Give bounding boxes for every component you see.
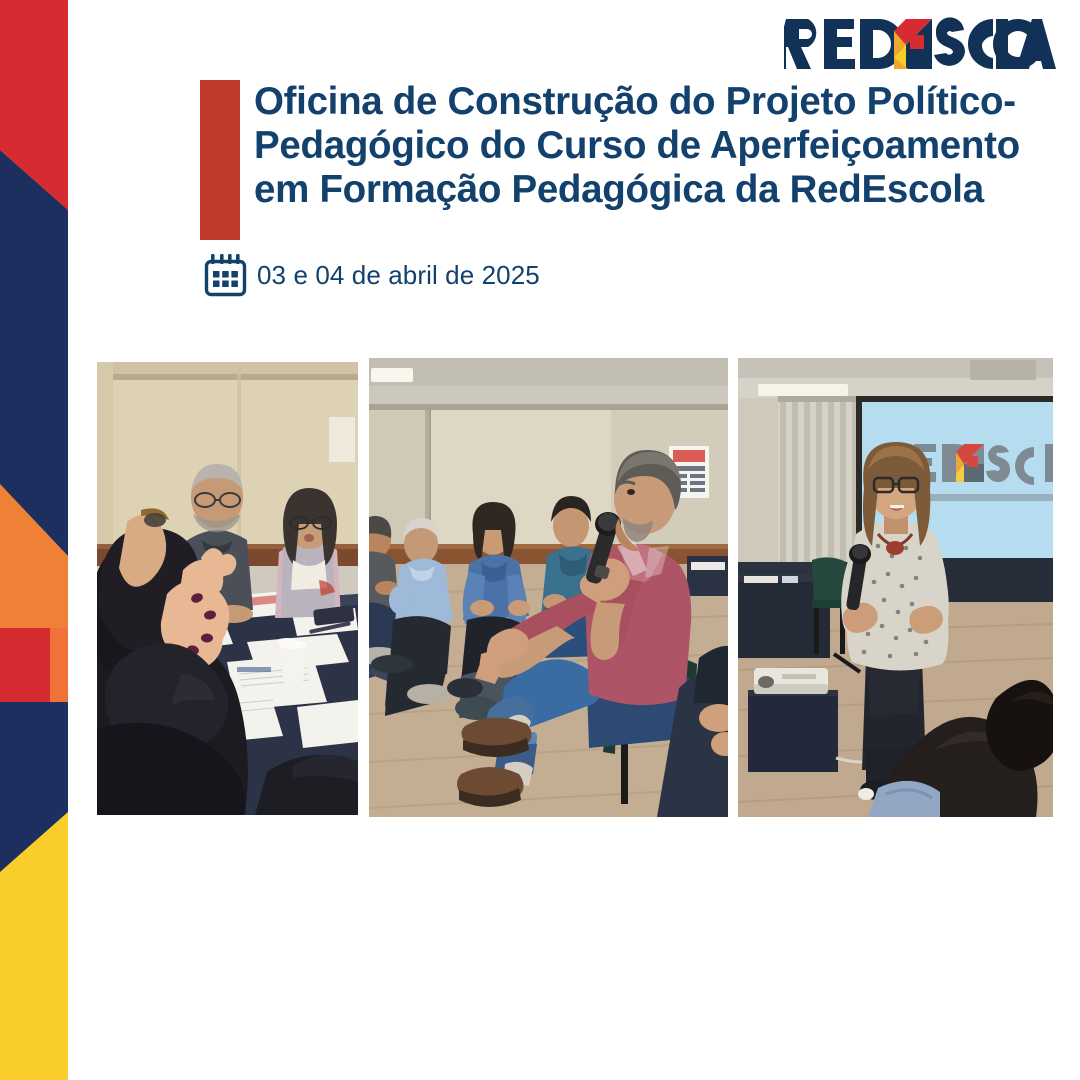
logo-e-mark xyxy=(894,19,932,69)
strip-bands-svg xyxy=(0,0,68,1080)
photo-presenter-screen xyxy=(738,358,1053,817)
event-date-row: 03 e 04 de abril de 2025 xyxy=(202,253,540,298)
event-date-label: 03 e 04 de abril de 2025 xyxy=(257,260,540,291)
strip-band-red-block xyxy=(0,628,50,702)
title-accent-bar xyxy=(200,80,240,240)
redescola-logo-svg xyxy=(784,17,1058,71)
photo-roundtable xyxy=(97,362,358,815)
photo-presenter-art xyxy=(738,358,1053,817)
photo-speaker-microphone xyxy=(369,358,728,817)
calendar-icon xyxy=(202,253,249,298)
photo-roundtable-art xyxy=(97,362,358,815)
photo-speaker-art xyxy=(369,358,728,817)
page-title: Oficina de Construção do Projeto Polític… xyxy=(254,80,1020,212)
decorative-color-strip xyxy=(0,0,68,1080)
redescola-logo xyxy=(784,16,1058,72)
title-block: Oficina de Construção do Projeto Polític… xyxy=(200,80,1020,240)
